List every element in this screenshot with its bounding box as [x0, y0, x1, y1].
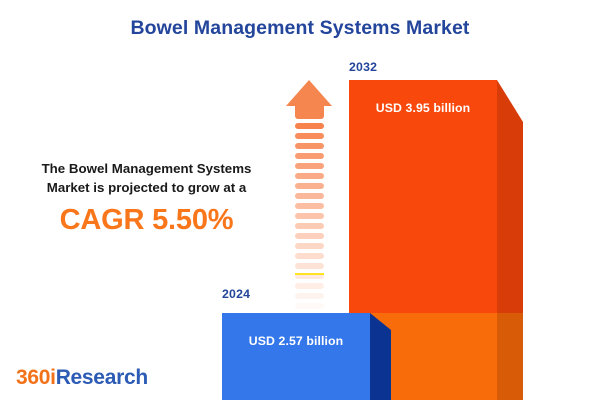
cagr-caption-line-2: Market is projected to grow at a: [14, 179, 279, 198]
bar-year-label-2032: 2032: [349, 60, 377, 74]
infographic-canvas: Bowel Management Systems Market The Bowe…: [0, 0, 600, 400]
bar-year-label-2024: 2024: [222, 287, 250, 301]
arrow-stripe-segment: [295, 163, 324, 169]
cagr-caption-block: The Bowel Management Systems Market is p…: [14, 160, 279, 237]
arrow-stripe-segment: [295, 223, 324, 229]
arrow-highlight-stripe-icon: [295, 273, 324, 275]
arrow-stripe-segment: [295, 243, 324, 249]
arrow-stripe-segment: [295, 293, 324, 299]
bar-2024[interactable]: USD 2.57 billion: [222, 313, 391, 400]
brand-logo[interactable]: 360iResearch: [16, 366, 148, 390]
arrow-stripe-segment: [295, 263, 324, 269]
arrow-stripe-segment: [295, 253, 324, 259]
arrow-stripe-segment: [295, 143, 324, 149]
logo-text-research: Research: [56, 366, 148, 389]
logo-text-360: 360: [16, 366, 50, 389]
arrow-stripe-segment: [295, 203, 324, 209]
arrow-stripe-segment: [295, 193, 324, 199]
arrow-stripe-segment: [295, 153, 324, 159]
growth-arrow-icon: [286, 80, 333, 304]
arrow-neck-icon: [295, 105, 324, 119]
bar-2024-front-face: [222, 313, 370, 400]
arrow-stripe-segment: [295, 213, 324, 219]
cagr-caption-line-1: The Bowel Management Systems: [14, 160, 279, 179]
arrow-stripe-segment: [295, 283, 324, 289]
bar-2024-side-face: [370, 313, 391, 400]
bar-2032-side-face-lower: [497, 313, 523, 400]
bar-2032-value-label: USD 3.95 billion: [349, 101, 497, 115]
arrow-stripe-segment: [295, 183, 324, 189]
cagr-caption-text: The Bowel Management Systems Market is p…: [14, 160, 279, 198]
arrow-stripe-segment: [295, 233, 324, 239]
arrow-stripe-segment: [295, 133, 324, 139]
arrow-stripe-segment: [295, 173, 324, 179]
cagr-value: CAGR 5.50%: [14, 204, 279, 237]
arrow-stripe-segment: [295, 123, 324, 129]
page-title: Bowel Management Systems Market: [0, 17, 600, 40]
bar-2024-value-label: USD 2.57 billion: [222, 334, 370, 348]
arrow-stripe-segment: [295, 303, 324, 309]
arrow-head-icon: [286, 80, 332, 106]
